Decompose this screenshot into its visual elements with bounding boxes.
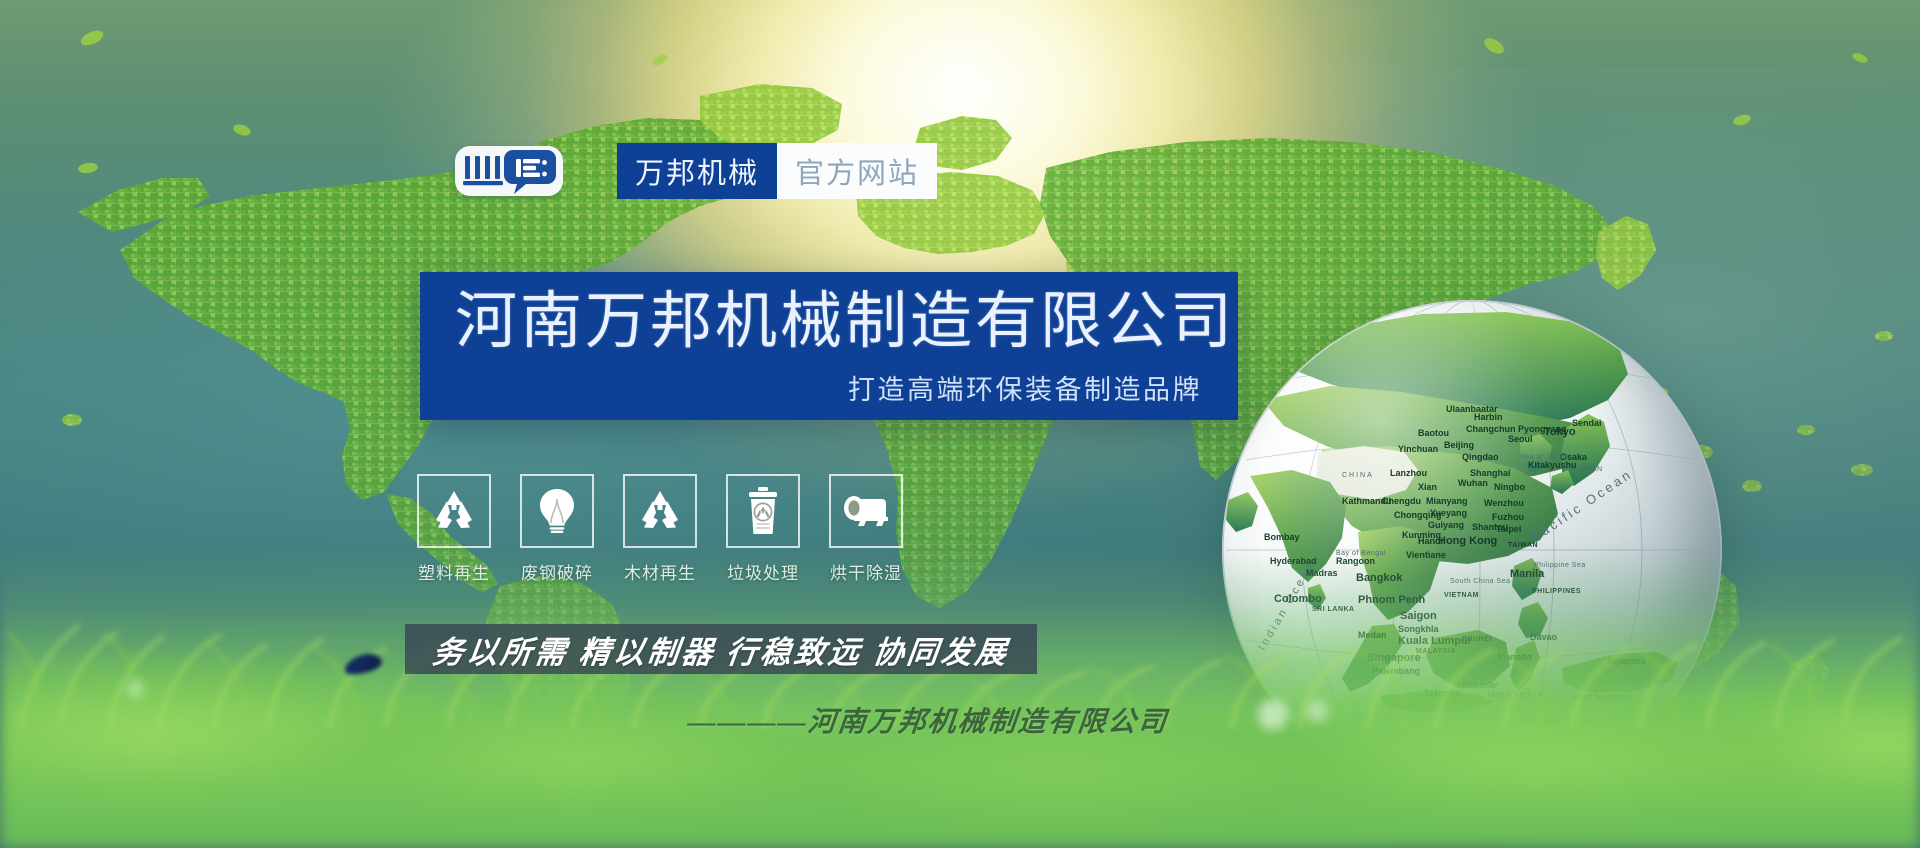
globe-label-yinchuan: Yinchuan bbox=[1398, 444, 1438, 454]
slogan-text: 务以所需 精以制器 行稳致远 协同发展 bbox=[430, 627, 1012, 672]
globe-label-tokyo: Tokyo bbox=[1544, 426, 1576, 438]
globe-label-china: CHINA bbox=[1342, 472, 1374, 479]
page-subtitle: 打造高端环保装备制造品牌 bbox=[848, 368, 1202, 407]
tab-wanbang-jixie[interactable]: 万邦机械 bbox=[617, 143, 777, 199]
globe-label-xian: Xian bbox=[1418, 482, 1437, 492]
globe-label-qingdao: Qingdao bbox=[1462, 452, 1499, 462]
bokeh-dot bbox=[1258, 700, 1288, 730]
trash-bin-icon bbox=[745, 486, 781, 536]
logo-w-icon bbox=[462, 154, 506, 188]
globe-label-kathmandu: Kathmandu bbox=[1342, 496, 1392, 506]
globe-label-sendai: Sendai bbox=[1572, 418, 1602, 428]
bokeh-dot bbox=[126, 680, 144, 698]
service-icon-box bbox=[623, 474, 697, 548]
globe-label-baotou: Baotou bbox=[1418, 428, 1449, 438]
service-icon-box bbox=[417, 474, 491, 548]
tab-official-website[interactable]: 官方网站 bbox=[777, 143, 937, 199]
slogan-signature: ————河南万邦机械制造有限公司 bbox=[686, 700, 1170, 740]
globe-label-ningbo: Ningbo bbox=[1494, 482, 1525, 492]
logo-b-icon bbox=[504, 148, 556, 194]
globe-label-kitakyushu: Kitakyushu bbox=[1528, 460, 1577, 470]
globe-label-taipei: Taipei bbox=[1496, 524, 1521, 534]
recycle-icon bbox=[637, 489, 683, 533]
service-icon-box bbox=[520, 474, 594, 548]
globe-label-japan: JAPAN bbox=[1578, 466, 1603, 473]
dryer-machine-icon bbox=[840, 493, 892, 529]
globe-label-guiyang: Guiyang bbox=[1428, 520, 1464, 530]
globe-label-shanghai: Shanghai bbox=[1470, 468, 1511, 478]
globe-label-lanzhou: Lanzhou bbox=[1390, 468, 1427, 478]
page-title: 河南万邦机械制造有限公司 bbox=[455, 285, 1235, 359]
globe-label-fuzhou: Fuzhou bbox=[1492, 512, 1524, 522]
globe-label-harbin: Harbin bbox=[1474, 412, 1503, 422]
globe-label-sea-of-japan: Sea of Japan bbox=[1520, 454, 1567, 461]
slogan-ribbon: 务以所需 精以制器 行稳致远 协同发展 bbox=[405, 624, 1037, 674]
globe-label-wenzhou: Wenzhou bbox=[1484, 498, 1524, 508]
site-header: 万邦机械 官方网站 bbox=[455, 143, 937, 199]
header-tabs: 万邦机械 官方网站 bbox=[617, 143, 937, 199]
service-icon-box bbox=[726, 474, 800, 548]
service-icon-box bbox=[829, 474, 903, 548]
recycle-icon bbox=[431, 489, 477, 533]
globe-label-seoul: Seoul bbox=[1508, 434, 1533, 444]
globe-label-wuhan: Wuhan bbox=[1458, 478, 1488, 488]
bokeh-dot bbox=[1306, 700, 1328, 722]
globe-label-changchun: Changchun bbox=[1466, 424, 1516, 434]
lightbulb-icon bbox=[538, 487, 576, 535]
globe-label-beijing: Beijing bbox=[1444, 440, 1474, 450]
wanbang-logo[interactable] bbox=[455, 146, 563, 196]
globe-label-yueyang: Yueyang bbox=[1430, 508, 1467, 518]
main-banner: 河南万邦机械制造有限公司 打造高端环保装备制造品牌 bbox=[420, 272, 1238, 420]
globe-label-mianyang: Mianyang bbox=[1426, 496, 1468, 506]
hero-banner: Pacific Ocean Indian Ocean Hong Kong Man… bbox=[0, 0, 1920, 848]
